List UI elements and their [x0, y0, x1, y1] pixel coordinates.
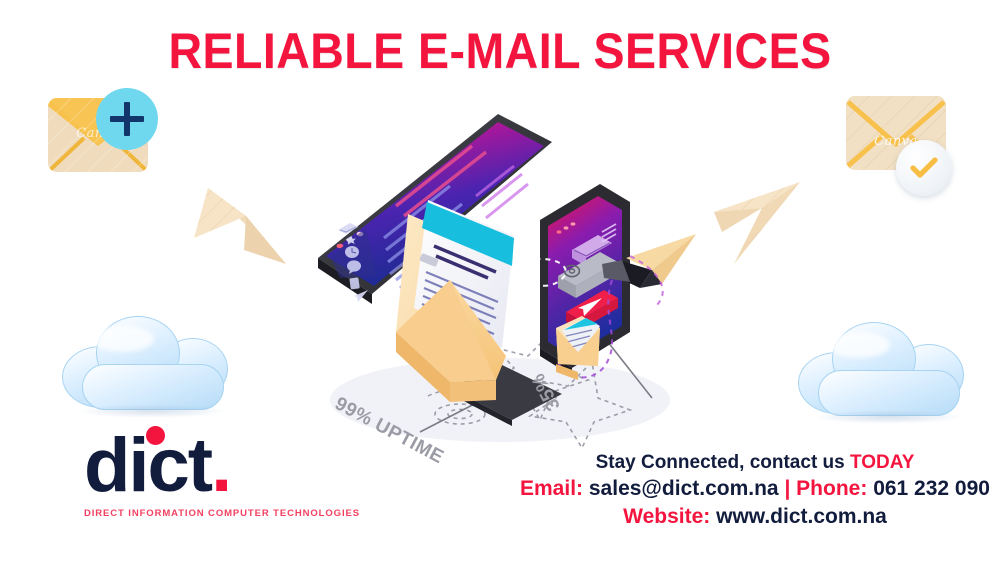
page-title: RELIABLE E-MAIL SERVICES: [35, 22, 965, 80]
phone-value[interactable]: 061 232 090: [873, 477, 990, 500]
email-label: Email:: [520, 477, 583, 500]
today-text: TODAY: [850, 452, 914, 473]
logo-period: .: [211, 423, 230, 508]
plus-icon: [110, 116, 144, 122]
phone-label: Phone:: [796, 477, 867, 500]
logo-i-dot: [146, 426, 165, 445]
logo-tagline: DIRECT INFORMATION COMPUTER TECHNOLOGIES: [84, 508, 314, 519]
paper-plane-graphic: [186, 176, 298, 272]
isometric-illustration: [300, 80, 720, 450]
plus-badge: [96, 88, 158, 150]
cloud-gloss: [828, 332, 890, 358]
check-badge: [896, 140, 952, 196]
contact-line-1: Stay Connected, contact us TODAY: [520, 450, 990, 475]
logo: dict. DIRECT INFORMATION COMPUTER TECHNO…: [84, 430, 314, 519]
contact-block: Stay Connected, contact us TODAY Email: …: [520, 450, 990, 531]
scene-graphic: [300, 80, 720, 450]
cloud-shadow: [76, 404, 227, 418]
envelope-side-right: [450, 380, 496, 402]
stay-connected-text: Stay Connected, contact us: [596, 452, 850, 473]
poster-canvas: RELIABLE E-MAIL SERVICES: [0, 0, 1000, 563]
website-value[interactable]: www.dict.com.na: [716, 505, 887, 528]
check-icon: [907, 151, 941, 185]
logo-wordmark: dict.: [84, 430, 314, 502]
contact-line-3: Website: www.dict.com.na: [520, 503, 990, 531]
cloud-shadow: [812, 410, 963, 424]
cloud-gloss: [92, 326, 154, 352]
paper-plane-left: [186, 176, 298, 277]
clock-icon: [345, 246, 359, 258]
clipboard-icon: [349, 277, 359, 289]
email-value[interactable]: sales@dict.com.na: [589, 477, 779, 500]
website-label: Website:: [623, 505, 710, 528]
cloud-left: [62, 312, 242, 410]
separator: |: [784, 477, 790, 500]
contact-line-2: Email: sales@dict.com.na | Phone: 061 23…: [520, 475, 990, 503]
cloud-right: [798, 318, 978, 416]
